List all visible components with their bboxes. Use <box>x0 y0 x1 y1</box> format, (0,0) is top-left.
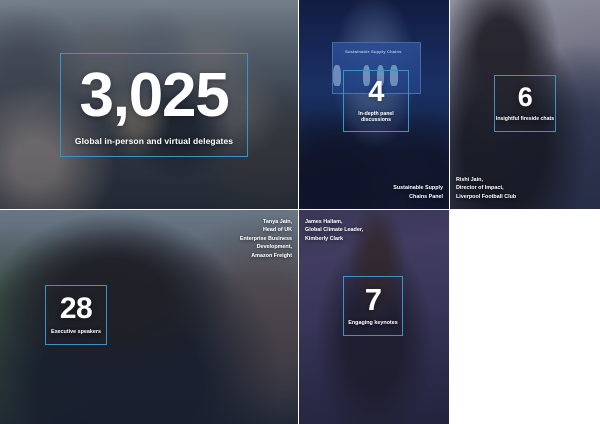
column-gutter-4 <box>449 210 450 424</box>
credit-fireside-chats: Rishi Jain, Director of Impact, Liverpoo… <box>456 176 516 201</box>
stage-avatar-4 <box>333 65 341 86</box>
stat-frame-fireside-chats: 6 Insightful fireside chats <box>494 75 556 132</box>
stat-caption-executive-speakers: Executive speakers <box>51 329 101 335</box>
stat-caption-panel-discussions: In-depth panel discussions <box>344 111 408 123</box>
stat-frame-delegates: 3,025 Global in-person and virtual deleg… <box>60 53 248 157</box>
stat-value-panel-discussions: 4 <box>368 79 384 106</box>
stat-value-keynotes: 7 <box>365 286 382 315</box>
panel-panel-discussions: Sustainable Supply Chains 4 In-depth pan… <box>299 0 449 209</box>
stat-caption-keynotes: Engaging keynotes <box>348 320 397 326</box>
stage-screen-title: Sustainable Supply Chains <box>345 49 401 54</box>
stat-caption-fireside-chats: Insightful fireside chats <box>496 116 554 122</box>
panel-fireside-chats: 6 Insightful fireside chats Rishi Jain, … <box>450 0 600 209</box>
stats-collage-page: 3,025 Global in-person and virtual deleg… <box>0 0 600 424</box>
credit-keynotes: James Hallam, Global Climate Leader, Kim… <box>305 218 363 243</box>
panel-executive-speakers: 28 Executive speakers Tanya Jain, Head o… <box>0 210 298 424</box>
stat-frame-executive-speakers: 28 Executive speakers <box>45 285 107 345</box>
stat-frame-panel-discussions: 4 In-depth panel discussions <box>343 70 409 132</box>
stat-value-executive-speakers: 28 <box>60 295 92 323</box>
panel-keynotes: 7 Engaging keynotes James Hallam, Global… <box>299 210 449 424</box>
credit-executive-speakers: Tanya Jain, Head of UK Enterprise Busine… <box>240 218 292 260</box>
credit-panel-discussions: Sustainable Supply Chains Panel <box>393 184 443 201</box>
stat-caption-delegates: Global in-person and virtual delegates <box>75 136 233 146</box>
panel-delegates: 3,025 Global in-person and virtual deleg… <box>0 0 298 209</box>
stat-value-delegates: 3,025 <box>80 67 229 124</box>
stat-frame-keynotes: 7 Engaging keynotes <box>343 276 403 336</box>
stat-value-fireside-chats: 6 <box>518 85 532 110</box>
